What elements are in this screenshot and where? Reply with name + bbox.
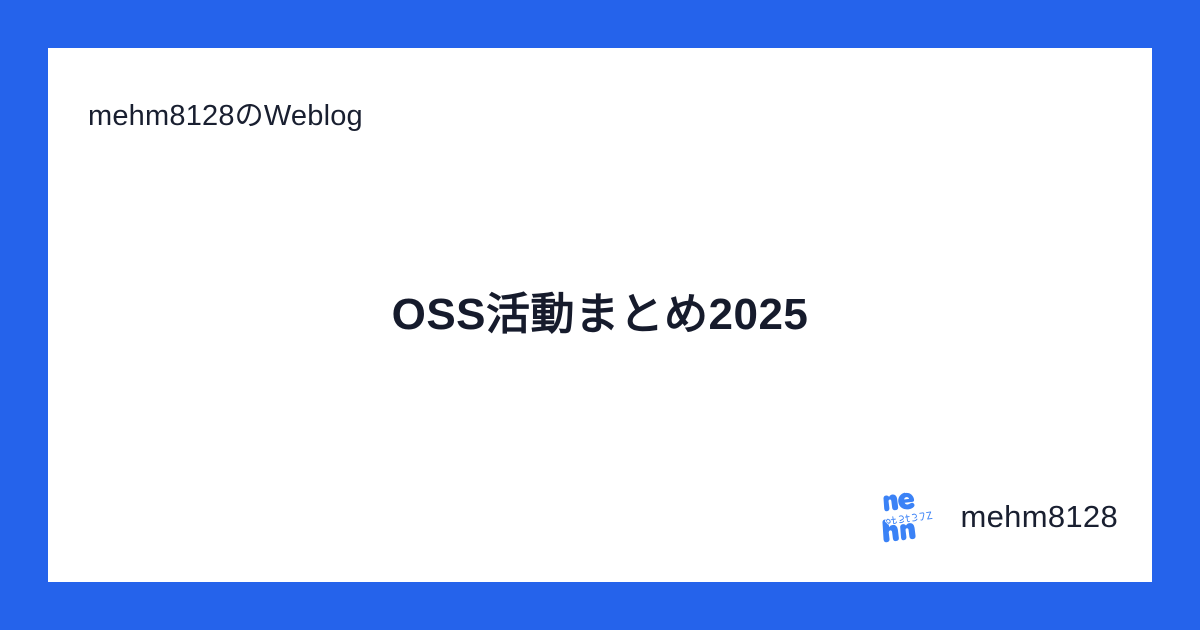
og-card: mehm8128のWeblog OSS活動まとめ2025 [48,48,1152,582]
author-name: mehm8128 [961,499,1119,535]
avatar [881,488,939,546]
mehm-logo-icon [881,488,939,546]
og-image-frame: mehm8128のWeblog OSS活動まとめ2025 [0,0,1200,630]
site-title: mehm8128のWeblog [88,92,363,134]
post-title: OSS活動まとめ2025 [392,285,809,344]
author-credit: mehm8128 [881,488,1119,546]
